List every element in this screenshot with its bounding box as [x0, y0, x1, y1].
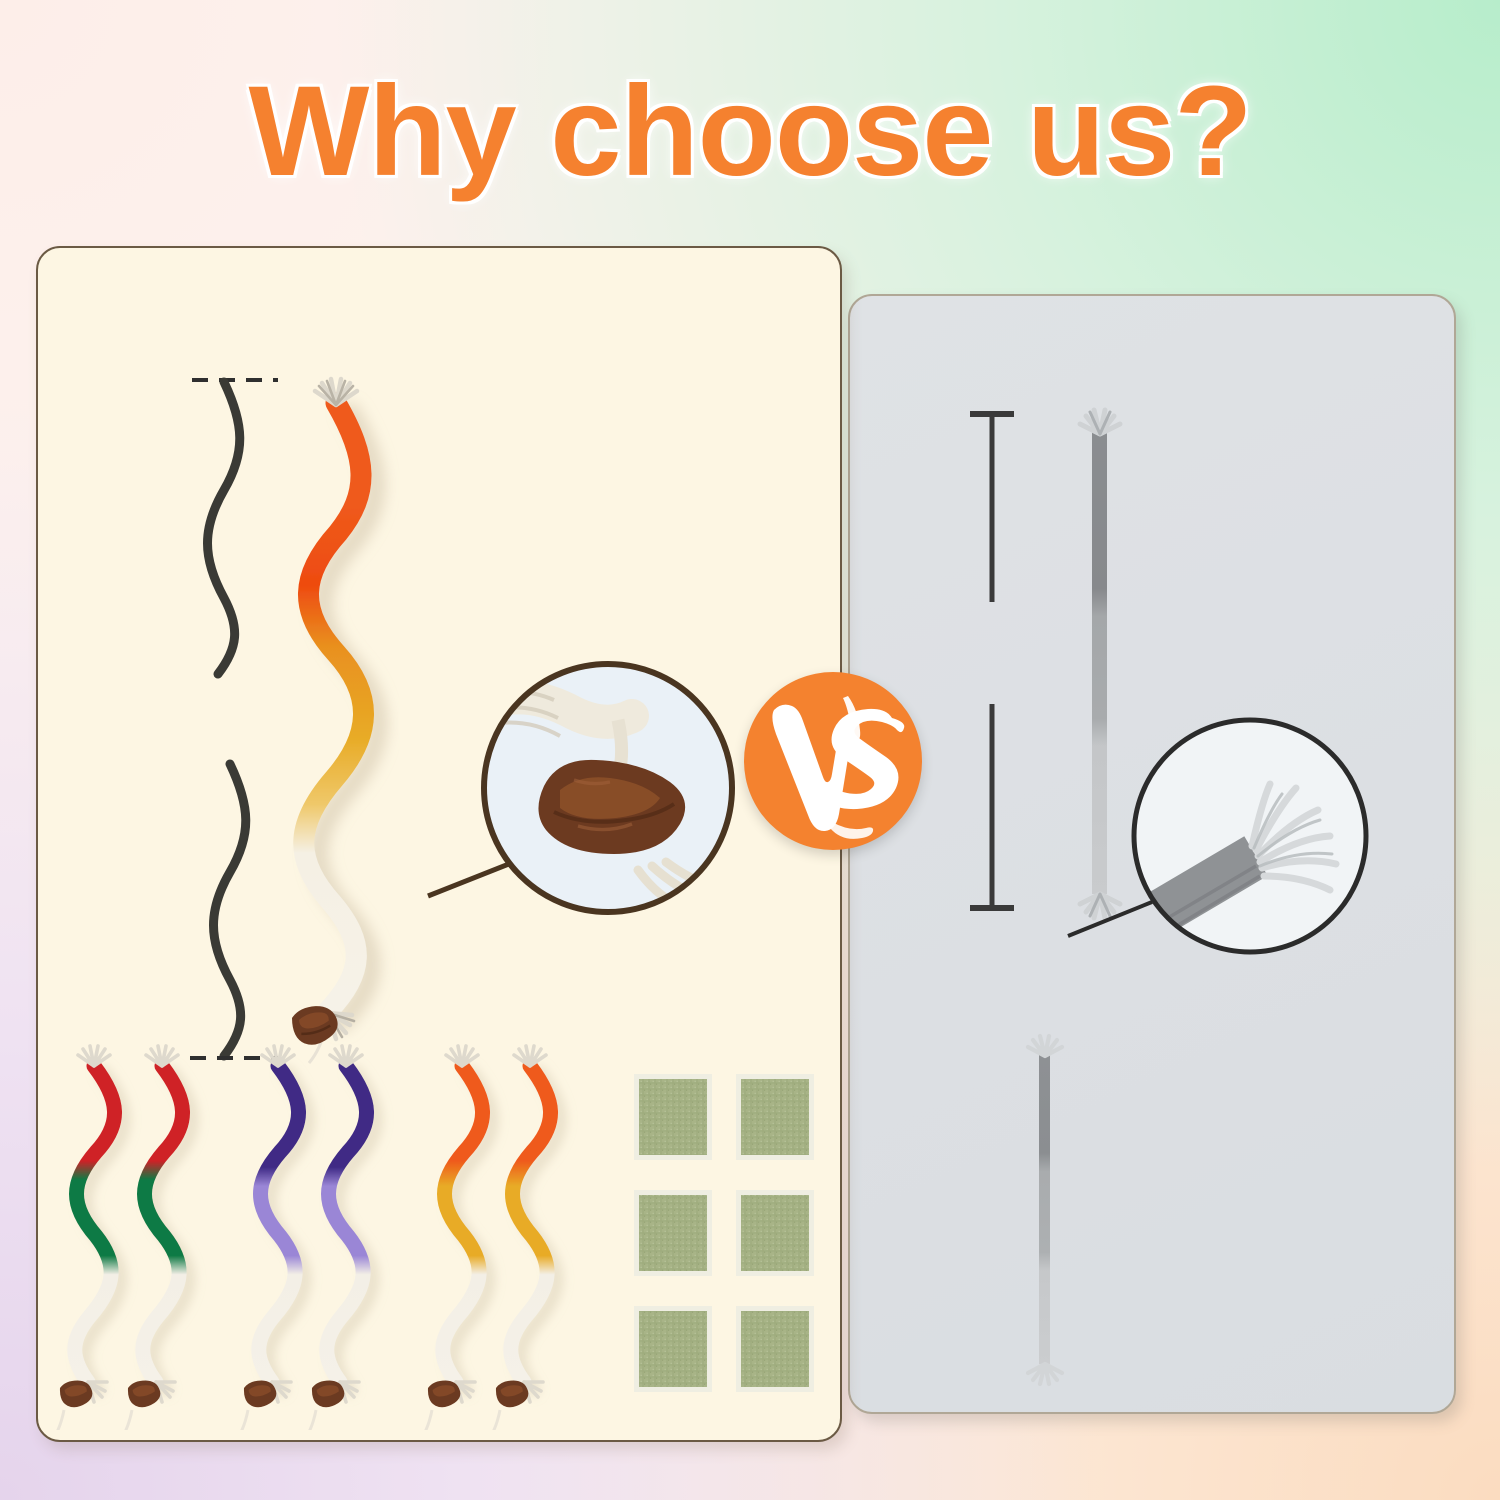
- page-title: Why choose us?: [0, 58, 1500, 205]
- our-product-panel: [36, 246, 842, 1442]
- competitor-rope-tassel-bottom: [1028, 1364, 1062, 1384]
- catnip-pad-grid: [628, 1068, 828, 1408]
- catnip-pad: [736, 1074, 814, 1160]
- catnip-pad: [634, 1074, 712, 1160]
- competitor-panel: [848, 294, 1456, 1414]
- vs-badge: [744, 672, 922, 850]
- dimension-squiggle-ours: [168, 366, 278, 1066]
- catnip-pad: [634, 1190, 712, 1276]
- gall-fruit-magnifier-inset: [418, 648, 758, 948]
- rope-pairs-illustration: [50, 1038, 610, 1430]
- competitor-rope-tassel-top: [1080, 410, 1120, 434]
- dimension-line-others: [962, 406, 1022, 916]
- catnip-pad: [634, 1306, 712, 1392]
- rope-pair-strings: [52, 1410, 500, 1430]
- vs-badge-glyph: [744, 672, 922, 850]
- rope-pair-top-tassels: [78, 1046, 546, 1066]
- rope-tassel-top: [315, 379, 357, 405]
- catnip-pad: [736, 1190, 814, 1276]
- competitor-rope-bottom: [1005, 1026, 1085, 1396]
- competitor-rope-tassel-top: [1028, 1036, 1062, 1056]
- catnip-pad: [736, 1306, 814, 1392]
- magnifier-pointer-line: [428, 862, 514, 896]
- magnifier-pointer-line: [1068, 902, 1152, 936]
- frayed-end-magnifier-inset: [1060, 696, 1390, 986]
